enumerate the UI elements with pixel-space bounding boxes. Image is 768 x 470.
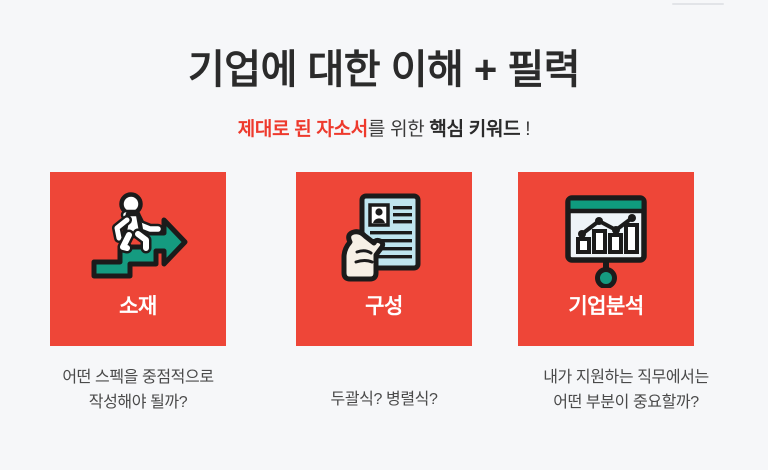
card-guseong[interactable]: 구성 [296, 172, 472, 346]
subtitle-strong-text: 핵심 키워드 [429, 119, 520, 140]
caption-guseong-line1: 두괄식? 병렬식? [244, 387, 524, 412]
subtitle-middle-text: 를 위한 [368, 119, 430, 140]
card-sojae[interactable]: 소재 [50, 172, 226, 346]
card-row: 소재 [50, 172, 718, 346]
caption-sojae-line1: 어떤 스펙을 중점적으로 [0, 365, 278, 390]
caption-sojae-line2: 작성해야 될까? [0, 390, 278, 415]
page-subtitle: 제대로 된 자소서를 위한 핵심 키워드 ! [0, 118, 768, 142]
caption-sojae: 어떤 스펙을 중점적으로 작성해야 될까? [0, 365, 278, 415]
page-title: 기업에 대한 이해 + 필력 [0, 47, 768, 93]
card-label-sojae: 소재 [119, 294, 157, 320]
card-gieopbunseok[interactable]: 기업분석 [518, 172, 694, 346]
caption-gieopbunseok-line2: 어떤 부분이 중요할까? [486, 390, 766, 415]
subtitle-end-text: ! [520, 119, 530, 140]
person-climbing-stairs-arrow-icon [86, 192, 190, 288]
slide-canvas: 기업에 대한 이해 + 필력 제대로 된 자소서를 위한 핵심 키워드 ! [0, 0, 768, 470]
subtitle-accent-text: 제대로 된 자소서 [238, 119, 368, 140]
caption-guseong: 두괄식? 병렬식? [244, 387, 524, 412]
presentation-board-bar-chart-icon [554, 192, 658, 288]
card-label-gieopbunseok: 기업분석 [568, 294, 643, 320]
top-divider-sliver [672, 3, 724, 5]
caption-row: 어떤 스펙을 중점적으로 작성해야 될까? 두괄식? 병렬식? 내가 지원하는 … [0, 365, 768, 435]
card-label-guseong: 구성 [365, 294, 403, 320]
caption-gieopbunseok: 내가 지원하는 직무에서는 어떤 부분이 중요할까? [486, 365, 766, 415]
hand-holding-resume-document-icon [332, 192, 436, 288]
caption-gieopbunseok-line1: 내가 지원하는 직무에서는 [486, 365, 766, 390]
